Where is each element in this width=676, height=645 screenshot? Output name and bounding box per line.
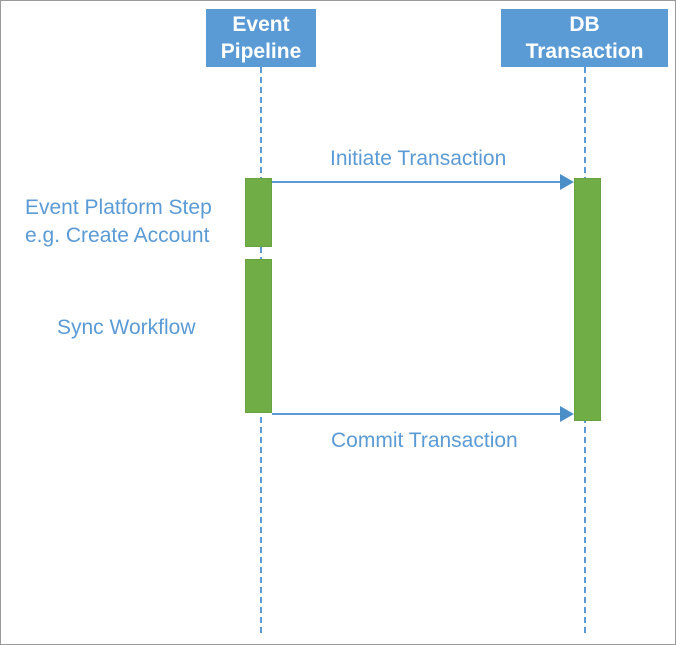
participant-event-pipeline[interactable]: Event Pipeline xyxy=(206,9,316,67)
annotation-sync-workflow-line1: Sync Workflow xyxy=(57,314,195,342)
annotation-sync-workflow: Sync Workflow xyxy=(57,314,195,342)
message-commit-transaction-arrowhead-icon xyxy=(560,406,574,422)
participant-db-transaction[interactable]: DB Transaction xyxy=(501,9,668,67)
annotation-event-platform-step: Event Platform Step e.g. Create Account xyxy=(25,194,212,250)
activation-bar-event-pipeline-top[interactable] xyxy=(245,178,272,247)
participant-db-transaction-line2: Transaction xyxy=(526,38,644,65)
annotation-event-platform-step-line1: Event Platform Step xyxy=(25,194,212,222)
message-commit-transaction-label: Commit Transaction xyxy=(331,428,518,454)
sequence-diagram-canvas: Event Pipeline DB Transaction Initiate T… xyxy=(0,0,676,645)
participant-db-transaction-line1: DB xyxy=(569,11,599,38)
participant-event-pipeline-line2: Pipeline xyxy=(221,38,302,65)
participant-event-pipeline-line1: Event xyxy=(232,11,289,38)
message-commit-transaction-line xyxy=(272,413,561,415)
message-initiate-transaction-label: Initiate Transaction xyxy=(330,146,506,172)
message-initiate-transaction-arrowhead-icon xyxy=(560,174,574,190)
annotation-event-platform-step-line2: e.g. Create Account xyxy=(25,222,212,250)
message-initiate-transaction-line xyxy=(272,181,561,183)
activation-bar-db-transaction[interactable] xyxy=(574,178,601,421)
activation-bar-event-pipeline-bottom[interactable] xyxy=(245,259,272,413)
